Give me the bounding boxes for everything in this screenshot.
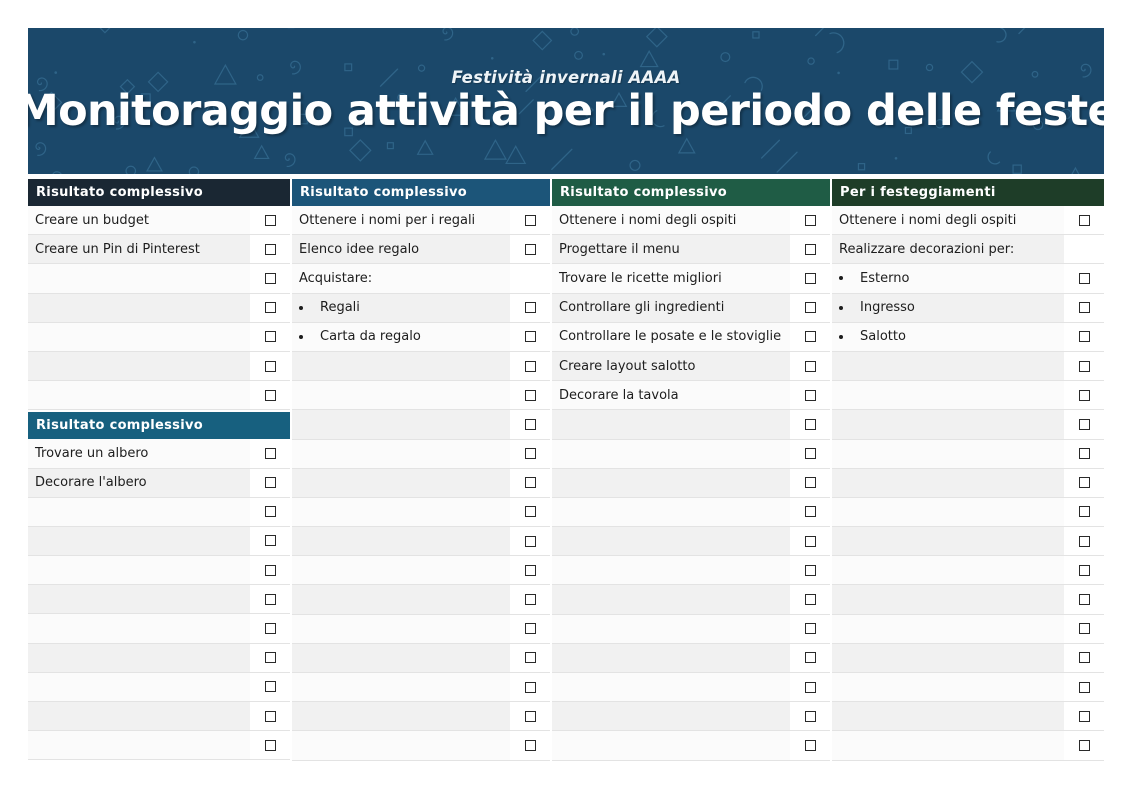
table-row[interactable] — [292, 410, 550, 439]
checkbox-icon[interactable] — [805, 419, 816, 430]
checkbox-icon[interactable] — [265, 477, 276, 488]
checkbox-cell[interactable] — [1064, 294, 1104, 322]
checkbox-icon[interactable] — [805, 565, 816, 576]
table-row[interactable] — [832, 615, 1104, 644]
checkbox-icon[interactable] — [805, 711, 816, 722]
task-label-cell[interactable] — [552, 440, 790, 468]
checkbox-icon[interactable] — [805, 506, 816, 517]
table-row[interactable] — [292, 731, 550, 760]
table-row[interactable] — [832, 381, 1104, 410]
task-label-cell[interactable] — [28, 556, 250, 584]
table-row[interactable] — [832, 469, 1104, 498]
table-row[interactable]: Trovare un albero — [28, 439, 290, 468]
checkbox-icon[interactable] — [1079, 565, 1090, 576]
table-row[interactable] — [552, 527, 830, 556]
task-label-cell[interactable] — [292, 469, 510, 497]
checkbox-cell[interactable] — [510, 206, 550, 234]
checkbox-cell[interactable] — [510, 235, 550, 263]
table-row[interactable]: Carta da regalo — [292, 323, 550, 352]
task-label-cell[interactable] — [832, 410, 1064, 438]
checkbox-cell[interactable] — [250, 556, 290, 584]
task-label-cell[interactable] — [552, 615, 790, 643]
checkbox-cell[interactable] — [1064, 323, 1104, 351]
task-label-cell[interactable] — [552, 556, 790, 584]
checkbox-icon[interactable] — [265, 535, 276, 546]
table-row[interactable] — [292, 498, 550, 527]
checkbox-icon[interactable] — [525, 244, 536, 255]
task-label-cell[interactable]: Decorare l'albero — [28, 469, 250, 497]
table-row[interactable] — [552, 469, 830, 498]
table-row[interactable] — [552, 673, 830, 702]
checkbox-icon[interactable] — [1079, 361, 1090, 372]
checkbox-icon[interactable] — [525, 477, 536, 488]
table-row[interactable] — [28, 673, 290, 702]
table-row[interactable] — [28, 527, 290, 556]
task-label-cell[interactable] — [832, 731, 1064, 759]
checkbox-icon[interactable] — [525, 711, 536, 722]
checkbox-cell[interactable] — [510, 673, 550, 701]
table-row[interactable] — [552, 644, 830, 673]
task-label-cell[interactable] — [28, 264, 250, 292]
table-row[interactable] — [292, 615, 550, 644]
checkbox-icon[interactable] — [805, 536, 816, 547]
checkbox-icon[interactable] — [525, 682, 536, 693]
checkbox-cell[interactable] — [790, 702, 830, 730]
table-row[interactable] — [552, 498, 830, 527]
table-row[interactable] — [832, 440, 1104, 469]
checkbox-cell[interactable] — [250, 264, 290, 292]
table-row[interactable] — [292, 381, 550, 410]
task-label-cell[interactable] — [552, 498, 790, 526]
checkbox-cell[interactable] — [510, 410, 550, 438]
checkbox-cell[interactable] — [250, 294, 290, 322]
table-row[interactable] — [832, 644, 1104, 673]
checkbox-cell[interactable] — [790, 527, 830, 555]
task-label-cell[interactable] — [28, 323, 250, 351]
checkbox-icon[interactable] — [525, 740, 536, 751]
task-label-cell[interactable] — [552, 644, 790, 672]
checkbox-cell[interactable] — [250, 469, 290, 497]
task-label-cell[interactable] — [28, 527, 250, 555]
checkbox-cell[interactable] — [790, 615, 830, 643]
task-label-cell[interactable] — [28, 352, 250, 380]
table-row[interactable] — [28, 323, 290, 352]
checkbox-icon[interactable] — [525, 565, 536, 576]
checkbox-icon[interactable] — [1079, 623, 1090, 634]
task-label: Creare layout salotto — [559, 359, 695, 374]
checkbox-cell[interactable] — [250, 235, 290, 263]
checkbox-cell[interactable] — [1064, 615, 1104, 643]
checkbox-icon[interactable] — [265, 244, 276, 255]
table-row[interactable]: Controllare le posate e le stoviglie — [552, 323, 830, 352]
task-label-cell[interactable] — [292, 498, 510, 526]
task-label-cell[interactable] — [28, 381, 250, 409]
task-label-cell[interactable]: Creare un budget — [28, 206, 250, 234]
task-label-cell[interactable] — [292, 352, 510, 380]
table-row[interactable] — [28, 294, 290, 323]
checkbox-cell[interactable] — [250, 585, 290, 613]
table-row[interactable] — [292, 469, 550, 498]
checkbox-cell[interactable] — [790, 381, 830, 409]
task-label-cell[interactable]: Trovare un albero — [28, 439, 250, 467]
checkbox-cell[interactable] — [510, 294, 550, 322]
table-row[interactable]: Regali — [292, 294, 550, 323]
task-label-cell[interactable] — [832, 673, 1064, 701]
checkbox-cell[interactable] — [1064, 702, 1104, 730]
table-row[interactable] — [552, 585, 830, 614]
checkbox-cell[interactable] — [250, 673, 290, 701]
table-row[interactable]: Decorare la tavola — [552, 381, 830, 410]
task-label-cell[interactable] — [832, 702, 1064, 730]
checkbox-cell[interactable] — [790, 498, 830, 526]
checkbox-icon[interactable] — [1079, 740, 1090, 751]
task-label-cell[interactable] — [292, 381, 510, 409]
checkbox-cell[interactable] — [510, 731, 550, 759]
checkbox-icon[interactable] — [1079, 477, 1090, 488]
task-label-cell[interactable] — [292, 702, 510, 730]
task-label-cell[interactable] — [832, 527, 1064, 555]
checkbox-cell[interactable] — [790, 673, 830, 701]
checkbox-cell[interactable] — [510, 615, 550, 643]
task-label-cell[interactable] — [28, 585, 250, 613]
task-label-cell[interactable]: Esterno — [832, 264, 1064, 292]
table-row[interactable]: Ottenere i nomi degli ospiti — [552, 206, 830, 235]
checkbox-cell[interactable] — [510, 352, 550, 380]
checkbox-cell[interactable] — [1064, 673, 1104, 701]
table-row[interactable] — [552, 440, 830, 469]
table-row[interactable] — [292, 556, 550, 585]
table-row[interactable] — [552, 731, 830, 760]
checkbox-cell[interactable] — [790, 206, 830, 234]
checkbox-cell[interactable] — [250, 498, 290, 526]
checkbox-cell[interactable] — [250, 352, 290, 380]
checkbox-icon[interactable] — [265, 565, 276, 576]
table-row[interactable]: Creare layout salotto — [552, 352, 830, 381]
checkbox-cell[interactable] — [510, 702, 550, 730]
task-label-cell[interactable] — [832, 585, 1064, 613]
checkbox-cell[interactable] — [1064, 556, 1104, 584]
checkbox-cell[interactable] — [1064, 440, 1104, 468]
checkbox-cell[interactable] — [250, 527, 290, 555]
task-label-cell[interactable] — [552, 673, 790, 701]
checkbox-cell[interactable] — [510, 440, 550, 468]
checkbox-cell[interactable] — [790, 731, 830, 759]
checkbox-icon[interactable] — [805, 740, 816, 751]
checkbox-cell[interactable] — [510, 323, 550, 351]
table-row[interactable]: Elenco idee regalo — [292, 235, 550, 264]
task-label-cell[interactable] — [552, 469, 790, 497]
checkbox-cell[interactable] — [790, 410, 830, 438]
checkbox-icon[interactable] — [525, 594, 536, 605]
checkbox-cell[interactable] — [250, 206, 290, 234]
table-row[interactable]: Ottenere i nomi per i regali — [292, 206, 550, 235]
checkbox-cell[interactable] — [1064, 206, 1104, 234]
table-row[interactable] — [28, 585, 290, 614]
table-row[interactable] — [552, 702, 830, 731]
task-label-cell[interactable]: Creare un Pin di Pinterest — [28, 235, 250, 263]
checkbox-icon[interactable] — [1079, 711, 1090, 722]
task-label-cell[interactable]: Salotto — [832, 323, 1064, 351]
task-label-cell[interactable] — [292, 527, 510, 555]
table-row[interactable]: Ingresso — [832, 294, 1104, 323]
checkbox-cell[interactable] — [1064, 352, 1104, 380]
task-label-cell[interactable]: Trovare le ricette migliori — [552, 264, 790, 292]
checkbox-icon[interactable] — [805, 302, 816, 313]
checkbox-icon[interactable] — [805, 390, 816, 401]
checkbox-icon[interactable] — [805, 477, 816, 488]
table-row[interactable]: Progettare il menu — [552, 235, 830, 264]
checkbox-cell[interactable] — [790, 323, 830, 351]
checkbox-cell[interactable] — [1064, 469, 1104, 497]
table-row[interactable] — [832, 556, 1104, 585]
table-row[interactable]: Salotto — [832, 323, 1104, 352]
task-label-cell[interactable]: Ingresso — [832, 294, 1064, 322]
task-label-cell[interactable] — [28, 673, 250, 701]
table-row[interactable] — [292, 673, 550, 702]
checkbox-icon[interactable] — [525, 536, 536, 547]
checkbox-icon[interactable] — [805, 652, 816, 663]
checkbox-cell[interactable] — [510, 469, 550, 497]
table-row[interactable] — [832, 410, 1104, 439]
checkbox-icon[interactable] — [1079, 302, 1090, 313]
table-row[interactable] — [28, 556, 290, 585]
checkbox-icon[interactable] — [265, 652, 276, 663]
task-label-cell[interactable] — [28, 614, 250, 642]
table-row[interactable] — [552, 410, 830, 439]
checkbox-cell[interactable] — [510, 498, 550, 526]
table-row[interactable]: Esterno — [832, 264, 1104, 293]
task-label-cell[interactable] — [28, 644, 250, 672]
checkbox-icon[interactable] — [1079, 506, 1090, 517]
checkbox-icon[interactable] — [525, 419, 536, 430]
checkbox-cell[interactable] — [790, 644, 830, 672]
checkbox-icon[interactable] — [525, 302, 536, 313]
checkbox-cell[interactable] — [250, 439, 290, 467]
task-label-cell[interactable]: Carta da regalo — [292, 323, 510, 351]
table-row[interactable]: Controllare gli ingredienti — [552, 294, 830, 323]
checkbox-icon[interactable] — [805, 273, 816, 284]
task-label-cell[interactable] — [292, 410, 510, 438]
checkbox-cell[interactable] — [250, 644, 290, 672]
task-label-cell[interactable] — [832, 556, 1064, 584]
checkbox-icon[interactable] — [805, 244, 816, 255]
table-row[interactable]: Trovare le ricette migliori — [552, 264, 830, 293]
checkbox-cell[interactable] — [1064, 585, 1104, 613]
checkbox-icon[interactable] — [265, 594, 276, 605]
table-row[interactable]: Acquistare: — [292, 264, 550, 293]
checkbox-icon[interactable] — [805, 331, 816, 342]
task-label-cell[interactable] — [552, 731, 790, 759]
checkbox-icon[interactable] — [525, 361, 536, 372]
checkbox-cell[interactable] — [250, 731, 290, 759]
task-label-cell[interactable] — [552, 527, 790, 555]
checkbox-icon[interactable] — [525, 623, 536, 634]
checkbox-icon[interactable] — [805, 623, 816, 634]
checkbox-icon[interactable] — [1079, 215, 1090, 226]
task-label-cell[interactable] — [552, 702, 790, 730]
checkbox-icon[interactable] — [1079, 448, 1090, 459]
task-label-cell[interactable] — [832, 644, 1064, 672]
checkbox-icon[interactable] — [525, 448, 536, 459]
task-label-cell[interactable]: Ottenere i nomi degli ospiti — [832, 206, 1064, 234]
table-row[interactable] — [28, 381, 290, 410]
checkbox-icon[interactable] — [265, 331, 276, 342]
task-label-cell[interactable]: Creare layout salotto — [552, 352, 790, 380]
checkbox-icon[interactable] — [1079, 652, 1090, 663]
table-row[interactable] — [552, 615, 830, 644]
table-row[interactable] — [292, 352, 550, 381]
checkbox-icon[interactable] — [1079, 682, 1090, 693]
checkbox-icon[interactable] — [1079, 536, 1090, 547]
task-label-cell[interactable] — [292, 615, 510, 643]
table-row[interactable] — [292, 440, 550, 469]
checkbox-cell[interactable] — [250, 323, 290, 351]
task-label-cell[interactable] — [292, 673, 510, 701]
checkbox-cell[interactable] — [250, 614, 290, 642]
table-row[interactable] — [292, 527, 550, 556]
table-row[interactable] — [28, 614, 290, 643]
table-row[interactable] — [832, 673, 1104, 702]
table-row[interactable] — [28, 702, 290, 731]
task-label-cell[interactable]: Controllare gli ingredienti — [552, 294, 790, 322]
table-row[interactable] — [552, 556, 830, 585]
checkbox-cell[interactable] — [1064, 498, 1104, 526]
checkbox-icon[interactable] — [265, 681, 276, 692]
table-row[interactable] — [28, 498, 290, 527]
task-label-cell[interactable] — [832, 440, 1064, 468]
table-row[interactable]: Decorare l'albero — [28, 469, 290, 498]
checkbox-icon[interactable] — [805, 682, 816, 693]
checkbox-icon[interactable] — [1079, 331, 1090, 342]
checkbox-icon[interactable] — [265, 302, 276, 313]
checkbox-icon[interactable] — [265, 273, 276, 284]
checkbox-cell[interactable] — [790, 294, 830, 322]
task-label-cell[interactable] — [28, 731, 250, 759]
checkbox-icon[interactable] — [265, 506, 276, 517]
checkbox-cell[interactable] — [1064, 264, 1104, 292]
task-label-cell[interactable] — [832, 381, 1064, 409]
task-label-cell[interactable] — [292, 731, 510, 759]
task-label-cell[interactable]: Elenco idee regalo — [292, 235, 510, 263]
checkbox-cell[interactable] — [510, 527, 550, 555]
checkbox-cell[interactable] — [250, 381, 290, 409]
task-label-cell[interactable]: Acquistare: — [292, 264, 510, 292]
checkbox-cell[interactable] — [790, 440, 830, 468]
checkbox-icon[interactable] — [525, 390, 536, 401]
checkbox-icon[interactable] — [265, 390, 276, 401]
task-label-cell[interactable] — [28, 702, 250, 730]
checkbox-icon[interactable] — [805, 448, 816, 459]
table-row[interactable] — [832, 702, 1104, 731]
table-row[interactable] — [292, 702, 550, 731]
table-row[interactable]: Creare un Pin di Pinterest — [28, 235, 290, 264]
table-row[interactable] — [832, 527, 1104, 556]
task-label-cell[interactable] — [832, 469, 1064, 497]
table-row[interactable] — [28, 352, 290, 381]
task-label-cell[interactable] — [552, 585, 790, 613]
task-label-cell[interactable] — [292, 556, 510, 584]
checkbox-icon[interactable] — [525, 331, 536, 342]
checkbox-icon[interactable] — [265, 711, 276, 722]
task-label-cell[interactable] — [292, 585, 510, 613]
checkbox-cell[interactable] — [790, 352, 830, 380]
checkbox-icon[interactable] — [1079, 594, 1090, 605]
checkbox-cell[interactable] — [790, 264, 830, 292]
task-label-cell[interactable] — [552, 410, 790, 438]
checkbox-icon[interactable] — [265, 215, 276, 226]
table-row[interactable] — [28, 264, 290, 293]
table-row[interactable] — [832, 585, 1104, 614]
task-label-cell[interactable]: Decorare la tavola — [552, 381, 790, 409]
checkbox-cell[interactable] — [1064, 644, 1104, 672]
checkbox-cell[interactable] — [510, 585, 550, 613]
checkbox-cell[interactable] — [1064, 731, 1104, 759]
task-label-cell[interactable]: Ottenere i nomi degli ospiti — [552, 206, 790, 234]
checkbox-icon[interactable] — [805, 361, 816, 372]
task-label-cell[interactable]: Regali — [292, 294, 510, 322]
checkbox-icon[interactable] — [265, 448, 276, 459]
task-label-cell[interactable] — [832, 352, 1064, 380]
column-4: Per i festeggiamentiOttenere i nomi degl… — [832, 179, 1104, 769]
task-label-cell[interactable]: Realizzare decorazioni per: — [832, 235, 1064, 263]
table-row[interactable] — [28, 644, 290, 673]
table-row[interactable]: Creare un budget — [28, 206, 290, 235]
task-label: Esterno — [860, 271, 909, 286]
checkbox-cell[interactable] — [1064, 381, 1104, 409]
table-row[interactable] — [832, 731, 1104, 760]
checkbox-cell[interactable] — [790, 556, 830, 584]
table-row[interactable] — [832, 352, 1104, 381]
checkbox-cell[interactable] — [790, 585, 830, 613]
checkbox-cell[interactable] — [1064, 410, 1104, 438]
checkbox-icon[interactable] — [525, 506, 536, 517]
task-label-cell[interactable]: Progettare il menu — [552, 235, 790, 263]
checkbox-icon[interactable] — [265, 623, 276, 634]
task-label-cell[interactable] — [292, 440, 510, 468]
checkbox-cell[interactable] — [510, 381, 550, 409]
checkbox-cell[interactable] — [790, 235, 830, 263]
table-row[interactable] — [28, 731, 290, 760]
table-row[interactable]: Realizzare decorazioni per: — [832, 235, 1104, 264]
checkbox-icon[interactable] — [1079, 390, 1090, 401]
task-label-cell[interactable] — [292, 644, 510, 672]
task-label-cell[interactable] — [28, 294, 250, 322]
checkbox-cell[interactable] — [510, 556, 550, 584]
task-label-cell[interactable]: Ottenere i nomi per i regali — [292, 206, 510, 234]
checkbox-icon[interactable] — [1079, 419, 1090, 430]
section-rows: Trovare un alberoDecorare l'albero — [28, 439, 290, 760]
checkbox-cell[interactable] — [790, 469, 830, 497]
task-label-cell[interactable] — [832, 615, 1064, 643]
task-label-cell[interactable]: Controllare le posate e le stoviglie — [552, 323, 790, 351]
checkbox-icon[interactable] — [525, 652, 536, 663]
checkbox-icon[interactable] — [1079, 273, 1090, 284]
table-row[interactable]: Ottenere i nomi degli ospiti — [832, 206, 1104, 235]
table-row[interactable] — [292, 644, 550, 673]
checkbox-icon[interactable] — [525, 215, 536, 226]
checkbox-icon[interactable] — [265, 361, 276, 372]
checkbox-cell[interactable] — [250, 702, 290, 730]
checkbox-icon[interactable] — [805, 594, 816, 605]
checkbox-icon[interactable] — [805, 215, 816, 226]
task-label-cell[interactable] — [832, 498, 1064, 526]
table-row[interactable] — [292, 585, 550, 614]
checkbox-icon[interactable] — [265, 740, 276, 751]
checkbox-cell[interactable] — [510, 644, 550, 672]
table-row[interactable] — [832, 498, 1104, 527]
task-label-cell[interactable] — [28, 498, 250, 526]
checkbox-cell[interactable] — [1064, 527, 1104, 555]
